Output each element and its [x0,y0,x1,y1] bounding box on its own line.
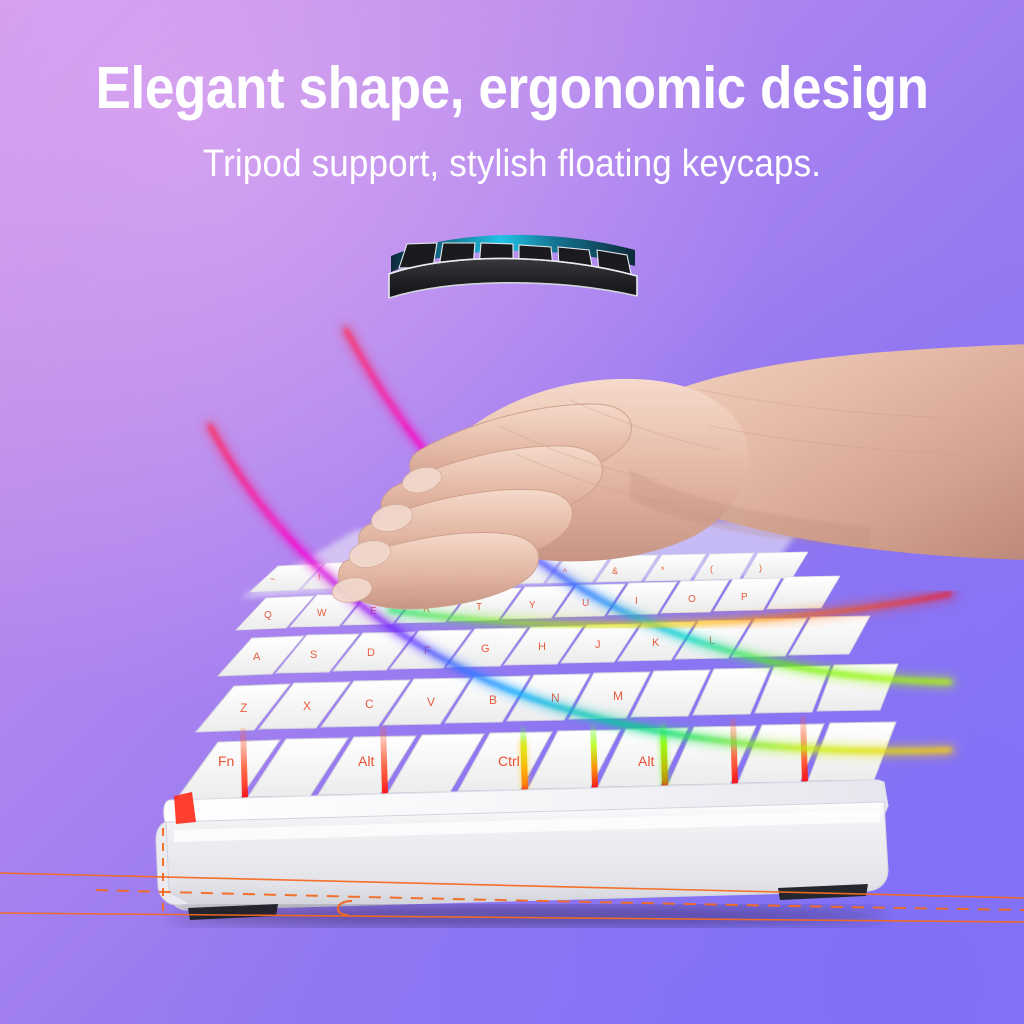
svg-text:Alt: Alt [638,753,654,769]
keyboard-case [156,780,888,910]
svg-text:Fn: Fn [218,753,234,769]
svg-text:Ctrl: Ctrl [498,753,520,769]
hand-on-keyboard [270,330,1024,730]
svg-text:Alt: Alt [358,753,374,769]
keyboard-side-profile [383,222,643,314]
page-subtitle: Tripod support, stylish floating keycaps… [41,144,983,186]
page-title: Elegant shape, ergonomic design [51,58,973,120]
banner-stage: Elegant shape, ergonomic design Tripod s… [0,0,1024,1024]
